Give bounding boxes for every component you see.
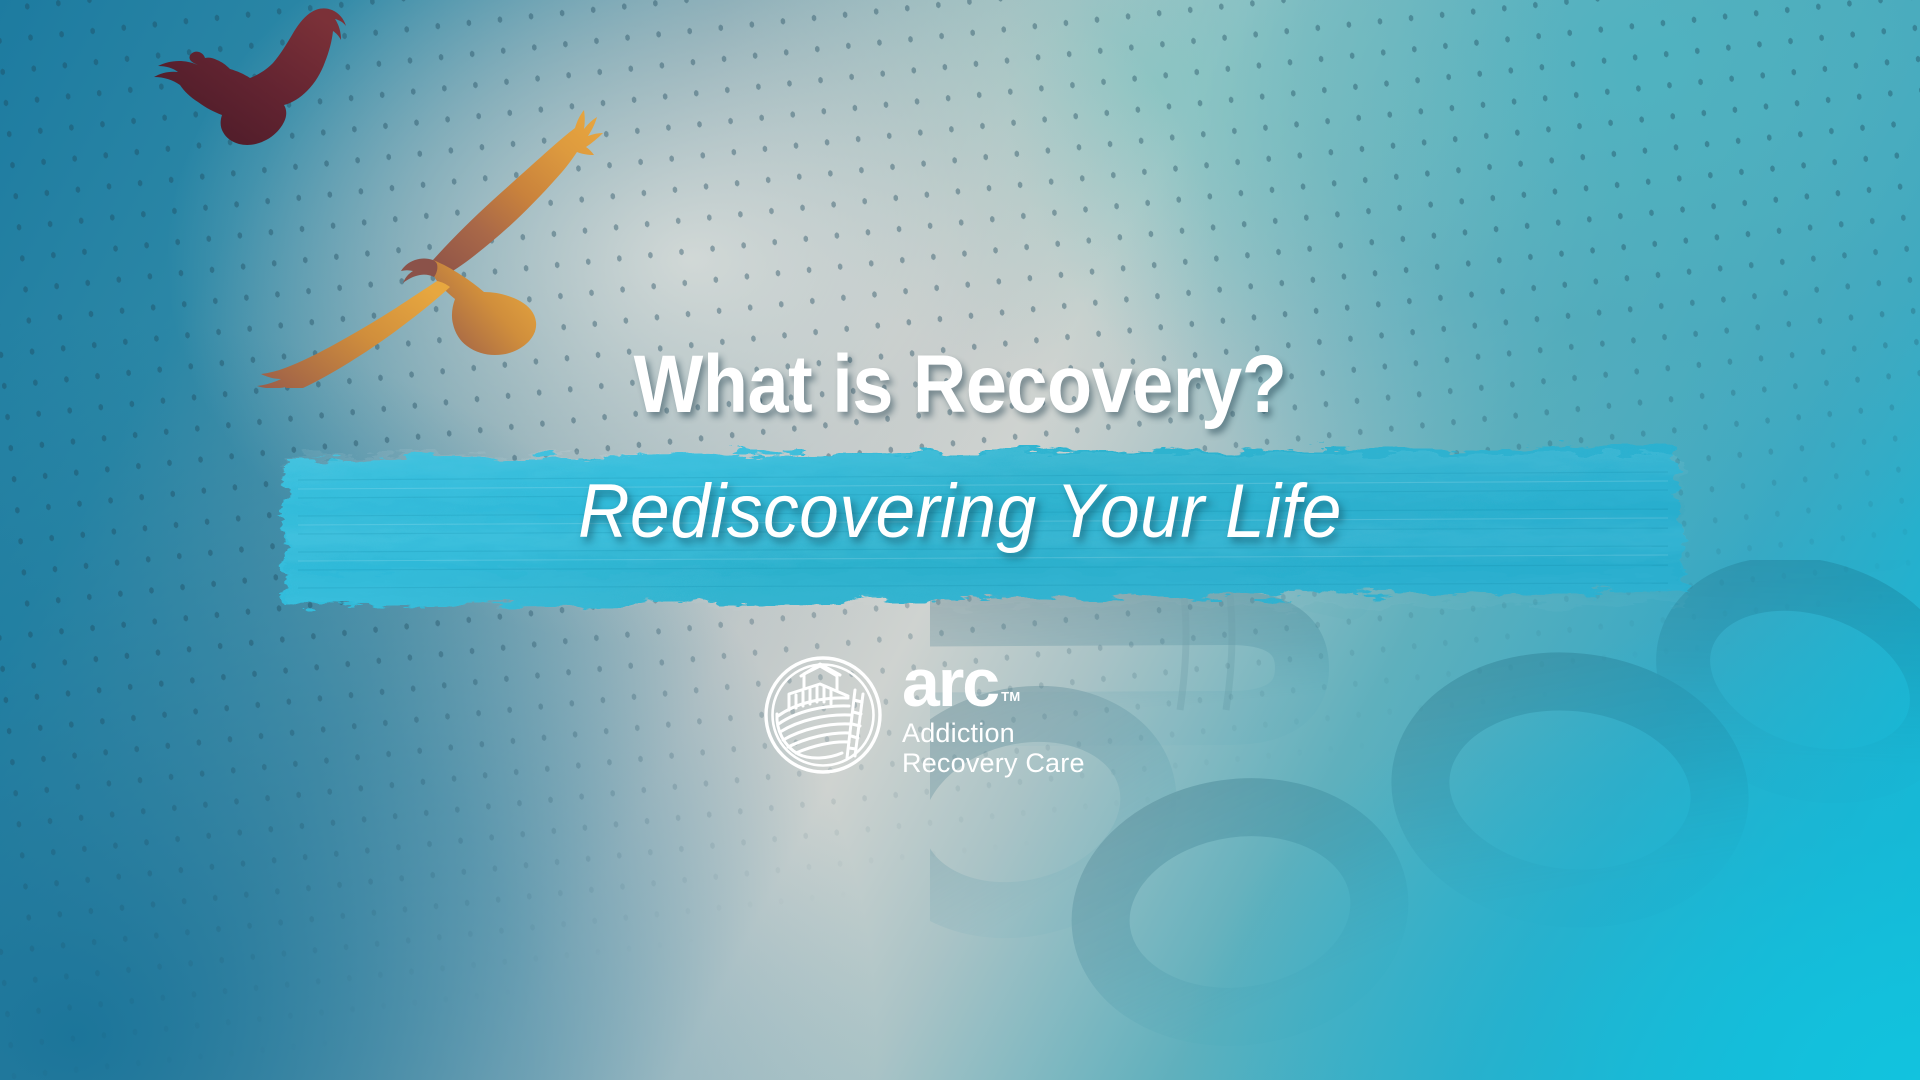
arc-wordmark-text: arc [902, 654, 998, 714]
ark-circle-emblem-icon [762, 654, 884, 776]
arc-tagline: Addiction Recovery Care [902, 718, 1085, 778]
arc-logo: arc TM Addiction Recovery Care [762, 645, 1152, 785]
broken-chain-links-icon [930, 560, 1920, 1080]
soaring-hawk-silhouette-icon [255, 108, 605, 388]
arc-tagline-line-1: Addiction [902, 718, 1085, 748]
presentation-slide: What is Recovery? Rediscovering Your Lif… [0, 0, 1920, 1080]
arc-tagline-line-2: Recovery Care [902, 748, 1085, 778]
arc-wordmark: arc TM Addiction Recovery Care [902, 652, 1085, 778]
cyan-brush-stroke-banner [258, 432, 1708, 622]
trademark-symbol: TM [1001, 689, 1020, 714]
